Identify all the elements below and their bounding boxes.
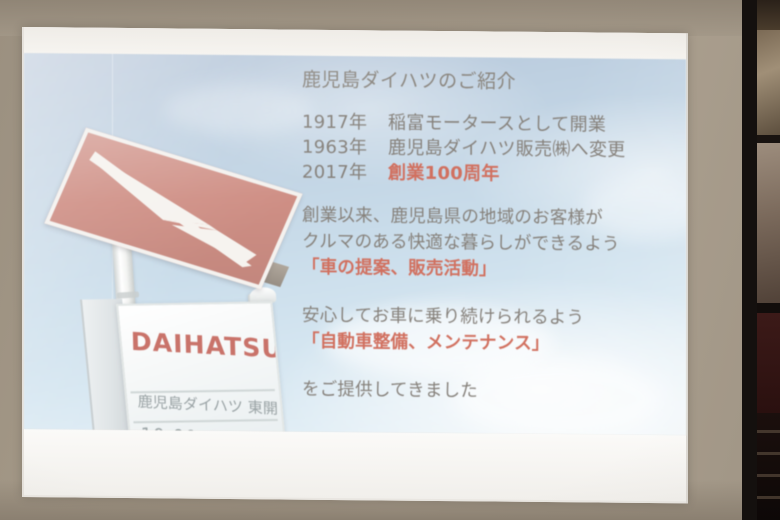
history-row: 2017年創業100周年: [302, 160, 682, 189]
projection-screen-surface: DAIHATSU 鹿児島ダイハツ 東開 10:00〜1 鹿児島ダイハツのご紹介 …: [22, 27, 688, 503]
sign-pole-band-left: [117, 291, 139, 298]
door-slat: [757, 496, 780, 499]
history-row: 1917年稲富モータースとして開業: [302, 110, 682, 139]
door-opening: [757, 0, 780, 520]
paragraph-line: 安心してお車に乗り続けられるよう: [302, 303, 682, 333]
screen-bottom-margin: [24, 429, 686, 501]
door-pane-1: [757, 0, 780, 30]
dealership-signboard: DAIHATSU 鹿児島ダイハツ 東開 10:00〜1: [116, 301, 287, 435]
slide-paragraph-1: 創業以来、鹿児島県の地域のお客様が クルマのある快適な暮らしができるよう 「車の…: [302, 203, 682, 285]
history-year: 1917年: [302, 110, 388, 136]
screen-edge-right: [686, 33, 688, 503]
history-row: 1963年鹿児島ダイハツ販売㈱へ変更: [302, 135, 682, 164]
history-year: 2017年: [302, 160, 388, 186]
history-text-highlight: 創業100周年: [388, 163, 500, 185]
door-pane-4: [757, 143, 780, 303]
door-slat: [757, 430, 780, 433]
door-pane-3: [757, 135, 780, 143]
slide-paragraph-2: 安心してお車に乗り続けられるよう 「自動車整備、メンテナンス」: [302, 303, 682, 359]
projection-screen: DAIHATSU 鹿児島ダイハツ 東開 10:00〜1 鹿児島ダイハツのご紹介 …: [22, 27, 688, 503]
slide-title: 鹿児島ダイハツのご紹介: [302, 66, 682, 98]
door-pane-6: [757, 313, 780, 413]
paragraph-line: クルマのある快適な暮らしができるよう: [302, 229, 682, 259]
paragraph-line-highlight: 「自動車整備、メンテナンス」: [302, 329, 682, 359]
door-pane-2: [757, 30, 780, 135]
paragraph-line: をご提供してきました: [302, 377, 682, 407]
slide-paragraph-3: をご提供してきました: [302, 377, 682, 407]
signboard-line-2: 鹿児島ダイハツ 東開: [137, 391, 278, 419]
paragraph-line-highlight: 「車の提案、販売活動」: [302, 255, 682, 285]
slide-text-block: 鹿児島ダイハツのご紹介 1917年稲富モータースとして開業 1963年鹿児島ダイ…: [302, 66, 682, 407]
history-list: 1917年稲富モータースとして開業 1963年鹿児島ダイハツ販売㈱へ変更 201…: [302, 110, 682, 189]
history-text: 稲富モータースとして開業: [388, 113, 606, 136]
logo-board: [44, 128, 302, 290]
paragraph-line: 創業以来、鹿児島県の地域のお客様が: [302, 203, 682, 233]
history-year: 1963年: [302, 135, 388, 161]
door-slat: [757, 452, 780, 455]
door-slat: [757, 474, 780, 477]
door-pane-5: [757, 303, 780, 313]
history-text: 鹿児島ダイハツ販売㈱へ変更: [388, 138, 626, 161]
signboard-brand-text: DAIHATSU: [130, 327, 268, 363]
presentation-slide: DAIHATSU 鹿児島ダイハツ 東開 10:00〜1 鹿児島ダイハツのご紹介 …: [24, 53, 686, 435]
screenshot-stage: DAIHATSU 鹿児島ダイハツ 東開 10:00〜1 鹿児島ダイハツのご紹介 …: [0, 0, 780, 520]
dealership-photo: DAIHATSU 鹿児島ダイハツ 東開 10:00〜1: [24, 53, 324, 432]
